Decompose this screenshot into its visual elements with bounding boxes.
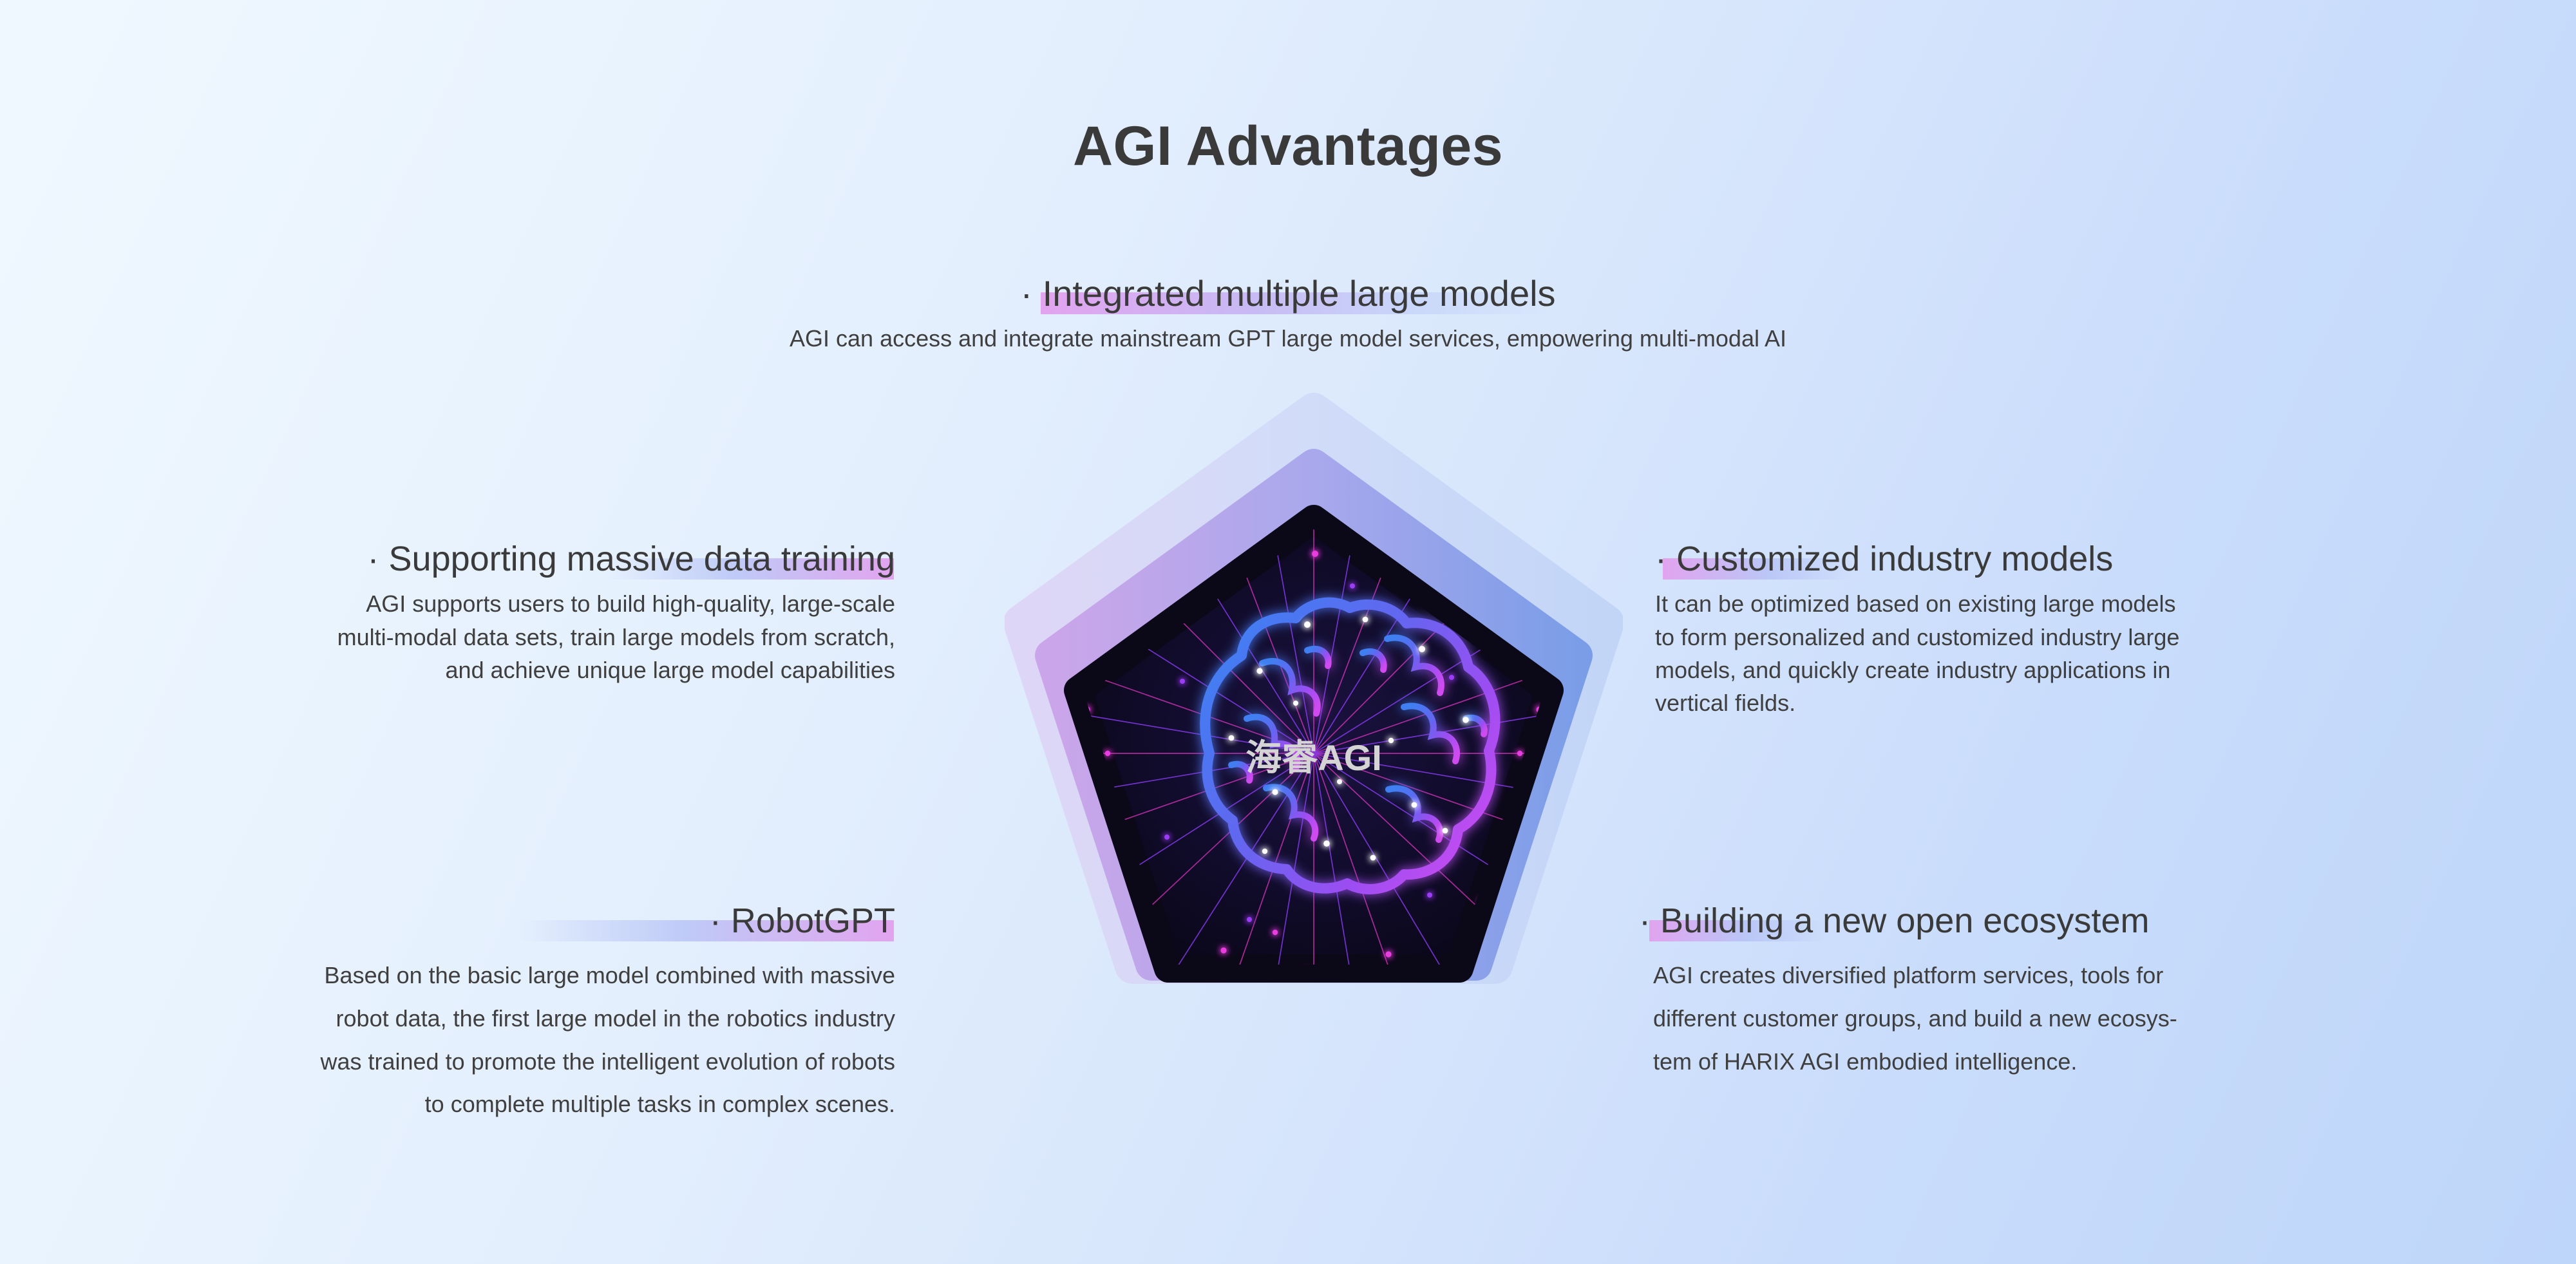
feature-integrated-body: AGI can access and integrate mainstream … <box>0 322 2576 355</box>
feature-data-training-heading: · Supporting massive data training <box>368 540 895 578</box>
center-label: 海睿AGI <box>1245 737 1382 778</box>
bullet-marker: · <box>1020 273 1032 314</box>
feature-ecosystem-body: AGI creates diversified platform service… <box>1639 954 2515 1083</box>
heading-text: Customized industry models <box>1676 540 2113 578</box>
body-line: to form personalized and customized indu… <box>1655 621 2518 654</box>
feature-custom-models-heading: · Customized industry models <box>1655 540 2113 578</box>
heading-text: Supporting massive data training <box>389 540 895 578</box>
heading-text: RobotGPT <box>731 901 895 940</box>
body-line: AGI supports users to build high-quality… <box>39 587 895 620</box>
page-title: AGI Advantages <box>0 115 2576 178</box>
body-line: models, and quickly create industry appl… <box>1655 654 2518 686</box>
feature-data-training: · Supporting massive data training AGI s… <box>39 540 895 686</box>
heading-text: Integrated multiple large models <box>1043 273 1556 314</box>
feature-ecosystem-heading: · Building a new open ecosystem <box>1639 901 2149 940</box>
feature-customized-industry-models: · Customized industry models It can be o… <box>1655 540 2518 719</box>
bullet-marker: · <box>1655 540 1667 578</box>
body-line: was trained to promote the intelligent e… <box>39 1041 895 1084</box>
bullet-marker: · <box>1639 901 1651 940</box>
body-line: It can be optimized based on existing la… <box>1655 587 2518 620</box>
bullet-marker: · <box>710 901 721 940</box>
body-line: different customer groups, and build a n… <box>1653 997 2515 1041</box>
bullet-marker: · <box>368 540 379 578</box>
feature-data-training-body: AGI supports users to build high-quality… <box>39 587 895 686</box>
feature-open-ecosystem: · Building a new open ecosystem AGI crea… <box>1639 901 2515 1083</box>
center-pentagon-graphic: 海睿AGI <box>1005 393 1623 1108</box>
feature-custom-models-body: It can be optimized based on existing la… <box>1655 587 2518 719</box>
body-line: tem of HARIX AGI embodied intelligence. <box>1653 1041 2515 1084</box>
feature-integrated-heading: · Integrated multiple large models <box>1020 274 1555 314</box>
feature-robotgpt-body: Based on the basic large model combined … <box>39 954 895 1126</box>
body-line: multi-modal data sets, train large model… <box>39 621 895 654</box>
feature-robotgpt: · RobotGPT Based on the basic large mode… <box>39 901 895 1126</box>
body-line: Based on the basic large model combined … <box>39 954 895 997</box>
body-line: vertical fields. <box>1655 686 2518 719</box>
body-line: to complete multiple tasks in complex sc… <box>39 1083 895 1126</box>
heading-text: Building a new open ecosystem <box>1660 901 2149 940</box>
body-line: AGI can access and integrate mainstream … <box>0 322 2576 355</box>
body-line: AGI creates diversified platform service… <box>1653 954 2515 997</box>
body-line: and achieve unique large model capabilit… <box>39 654 895 686</box>
body-line: robot data, the first large model in the… <box>39 997 895 1041</box>
feature-integrated-models: · Integrated multiple large models AGI c… <box>0 274 2576 355</box>
feature-robotgpt-heading: · RobotGPT <box>710 901 895 940</box>
